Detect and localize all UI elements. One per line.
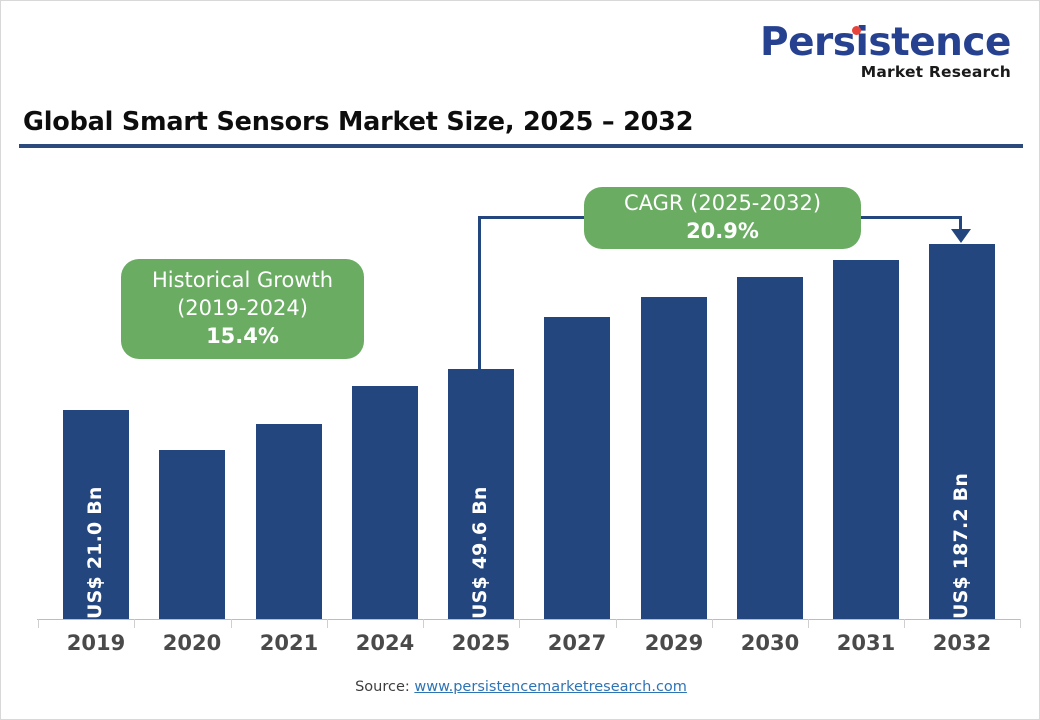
bar-chart-plot-area: US$ 21.0 BnUS$ 49.6 BnUS$ 187.2 Bn 20192…: [1, 1, 1040, 720]
x-axis-label-2029: 2029: [629, 631, 719, 655]
chart-page: Persistence Market Research Global Smart…: [0, 0, 1040, 720]
source-link[interactable]: www.persistencemarketresearch.com: [414, 679, 687, 695]
source-prefix: Source:: [355, 679, 414, 695]
cagr-callout: CAGR (2025-2032) 20.9%: [584, 187, 861, 249]
x-axis-tick: [808, 619, 809, 628]
bar-2029: [641, 297, 707, 619]
x-axis-tick: [134, 619, 135, 628]
x-axis-label-2030: 2030: [725, 631, 815, 655]
x-axis-line: [37, 619, 1021, 620]
bar-value-label-2032: US$ 187.2 Bn: [950, 473, 972, 619]
source-line: Source: www.persistencemarketresearch.co…: [1, 679, 1040, 695]
x-axis-tick: [904, 619, 905, 628]
historical-growth-line2: (2019-2024): [177, 295, 308, 323]
bar-2030: [737, 277, 803, 619]
historical-growth-line1: Historical Growth: [152, 267, 333, 295]
historical-growth-callout: Historical Growth (2019-2024) 15.4%: [121, 259, 364, 359]
x-axis-tick: [38, 619, 39, 628]
x-axis-tick: [616, 619, 617, 628]
x-axis-tick: [327, 619, 328, 628]
bar-2031: [833, 260, 899, 619]
cagr-value: 20.9%: [686, 218, 759, 246]
x-axis-tick: [231, 619, 232, 628]
cagr-connector-vertical-start: [478, 216, 481, 371]
x-axis-tick: [519, 619, 520, 628]
bar-value-label-2019: US$ 21.0 Bn: [84, 486, 106, 619]
x-axis-label-2027: 2027: [532, 631, 622, 655]
x-axis-label-2031: 2031: [821, 631, 911, 655]
bar-2024: [352, 386, 418, 619]
bar-value-label-2025: US$ 49.6 Bn: [469, 486, 491, 619]
x-axis-label-2025: 2025: [436, 631, 526, 655]
historical-growth-value: 15.4%: [206, 323, 279, 351]
x-axis-label-2020: 2020: [147, 631, 237, 655]
x-axis-tick: [712, 619, 713, 628]
x-axis-label-2021: 2021: [244, 631, 334, 655]
x-axis-label-2024: 2024: [340, 631, 430, 655]
cagr-line1: CAGR (2025-2032): [624, 190, 821, 218]
x-axis-label-2032: 2032: [917, 631, 1007, 655]
bar-2020: [159, 450, 225, 619]
bar-2027: [544, 317, 610, 619]
x-axis-tick: [1020, 619, 1021, 628]
x-axis-tick: [423, 619, 424, 628]
bar-2021: [256, 424, 322, 619]
x-axis-label-2019: 2019: [51, 631, 141, 655]
cagr-arrow-icon: [951, 229, 971, 243]
